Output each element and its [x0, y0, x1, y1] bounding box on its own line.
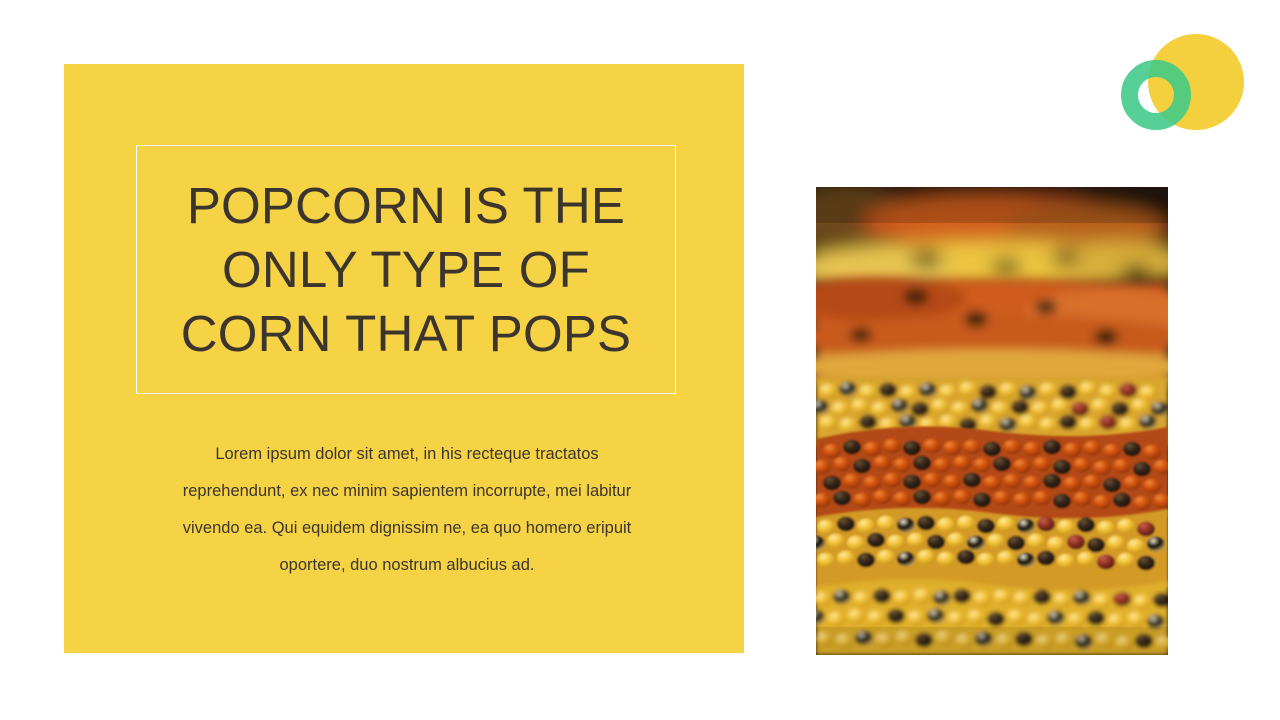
- indian-corn-photo: [816, 187, 1168, 655]
- content-panel: POPCORN IS THE ONLY TYPE OF CORN THAT PO…: [64, 64, 744, 653]
- slide-canvas: POPCORN IS THE ONLY TYPE OF CORN THAT PO…: [0, 0, 1280, 720]
- page-title: POPCORN IS THE ONLY TYPE OF CORN THAT PO…: [175, 174, 638, 366]
- title-outline-box: POPCORN IS THE ONLY TYPE OF CORN THAT PO…: [136, 145, 676, 394]
- brand-logo-mark: [1110, 24, 1260, 144]
- body-paragraph: Lorem ipsum dolor sit amet, in his recte…: [164, 436, 650, 584]
